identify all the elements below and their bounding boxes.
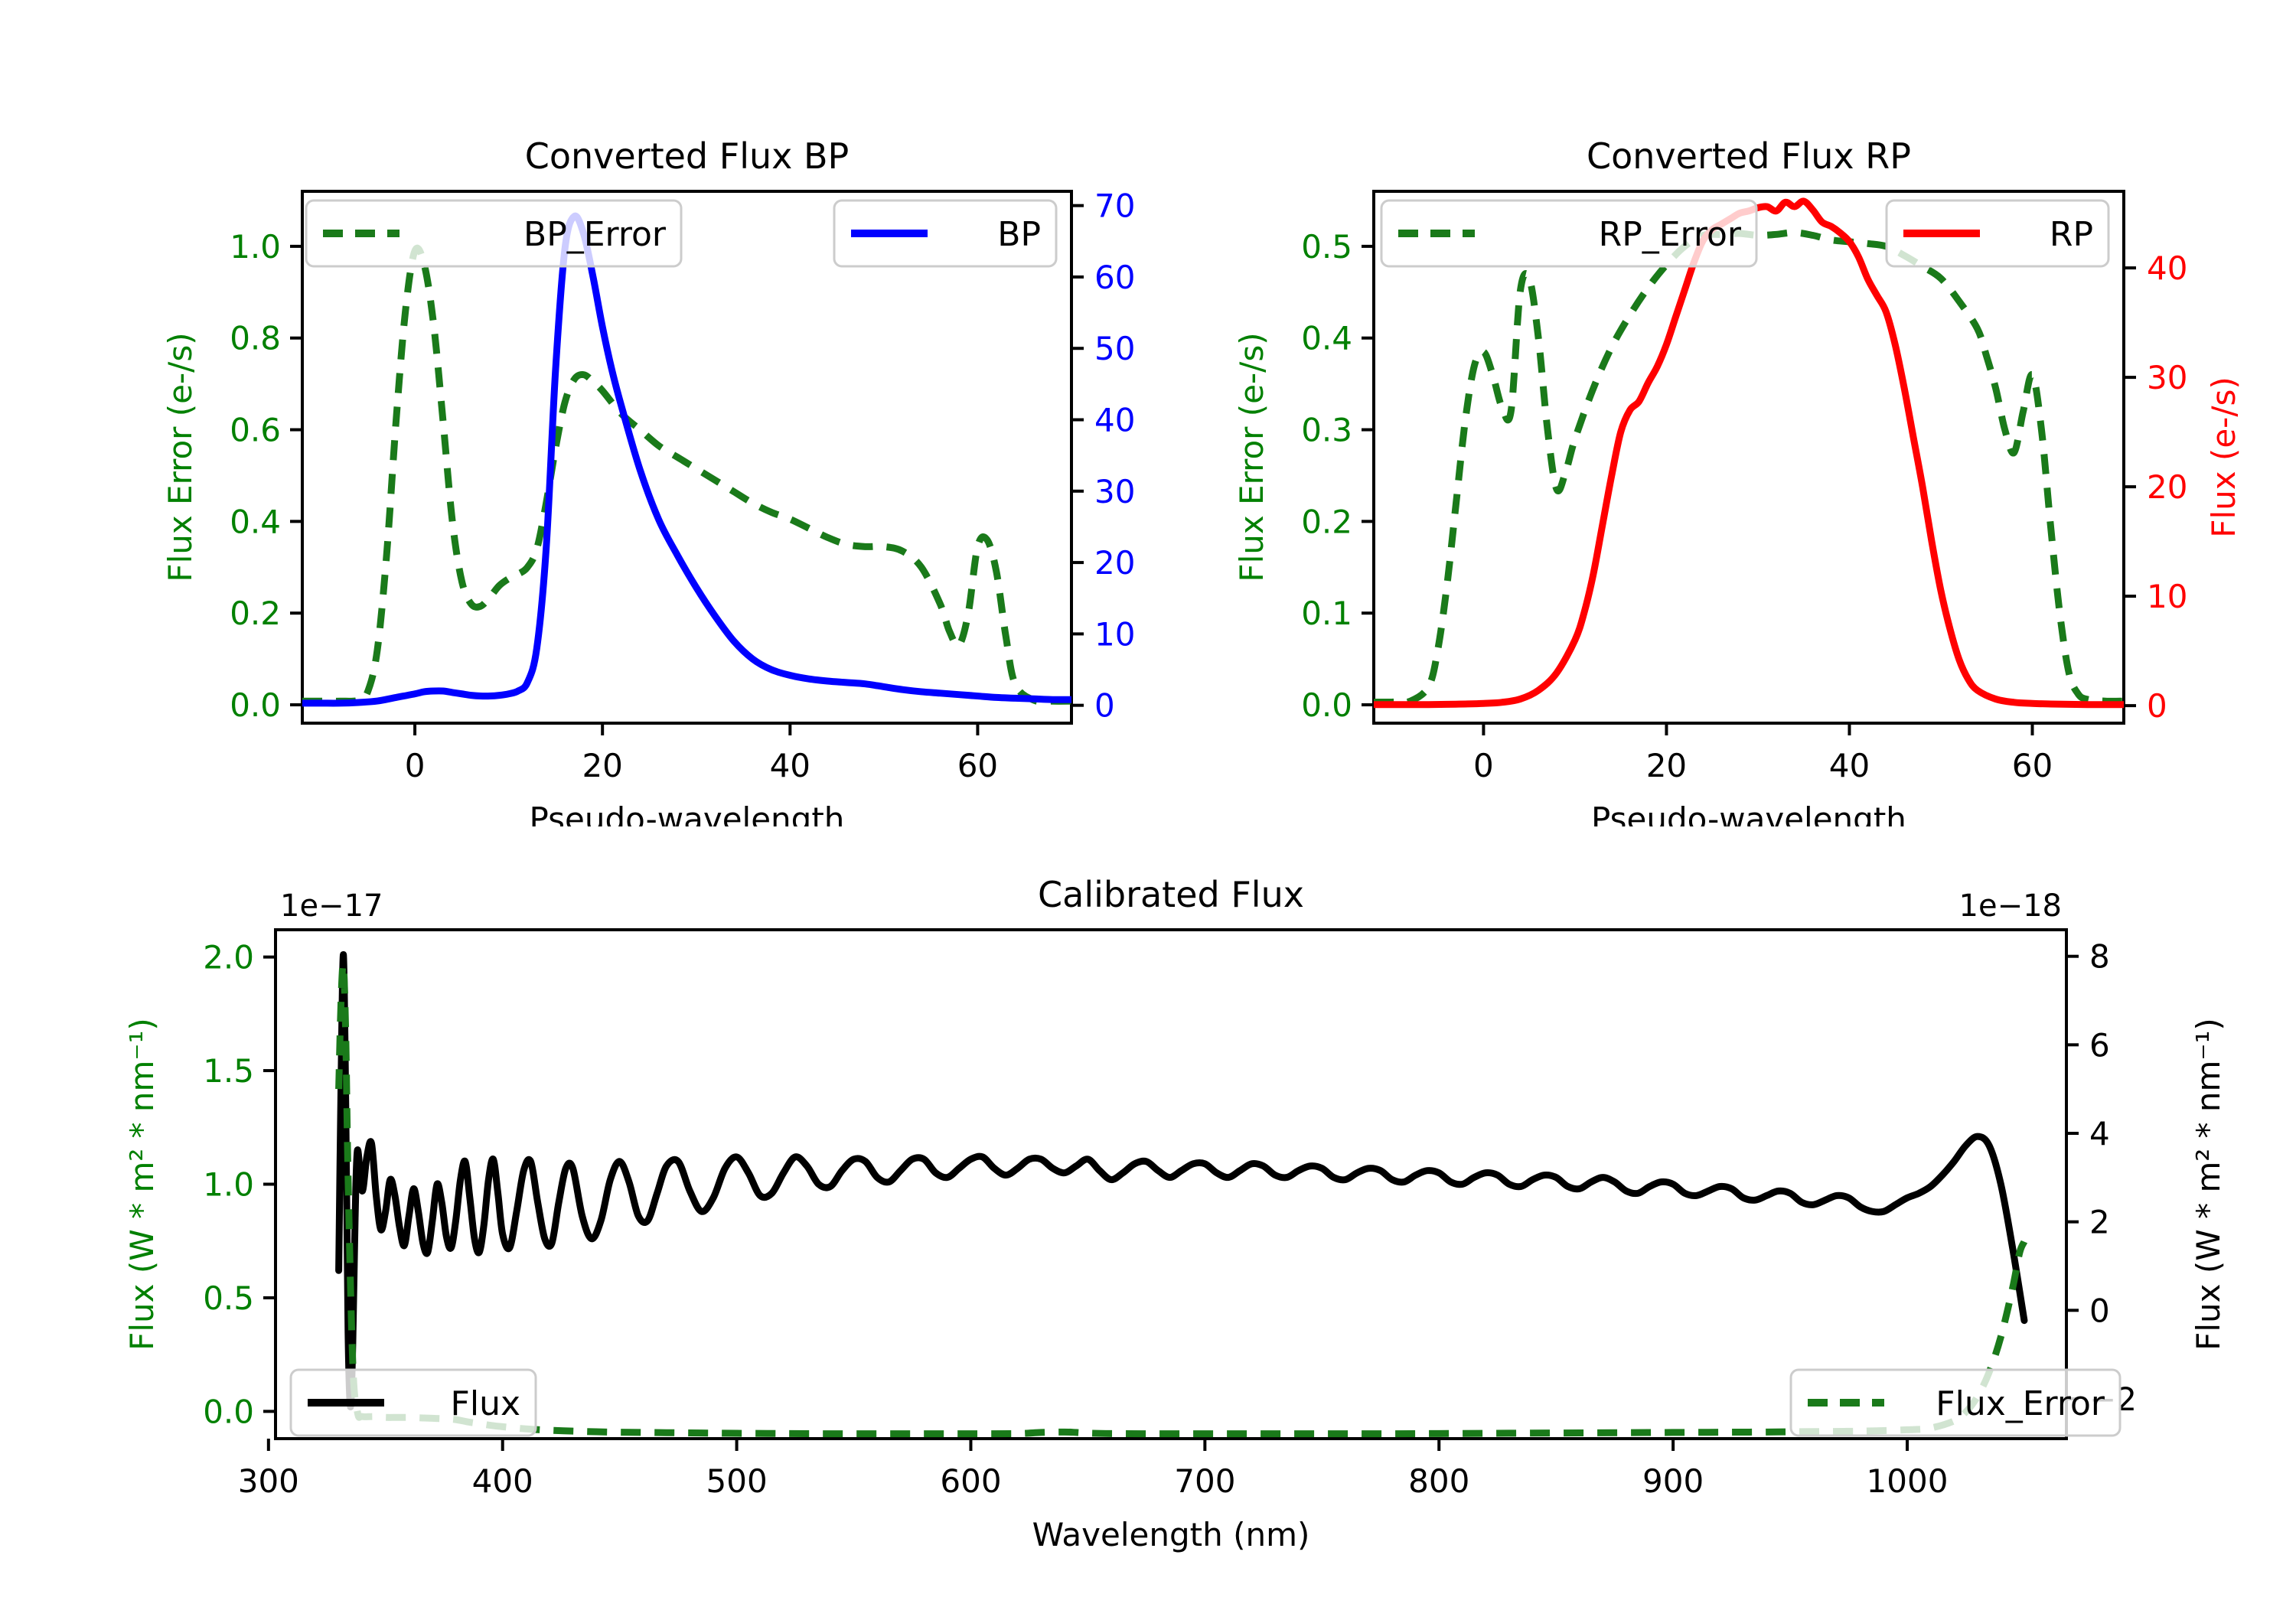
series-flux <box>339 954 2024 1407</box>
x-tick-label: 300 <box>238 1462 299 1500</box>
series-bp_error <box>302 248 1071 702</box>
y-left-tick-label: 0.2 <box>230 595 281 632</box>
x-tick-label: 20 <box>1646 747 1687 784</box>
panel-rp-ylabel-right: Flux (e-/s) <box>2205 376 2242 537</box>
y-right-tick-label: 0 <box>1094 687 1115 725</box>
legend-flux-error[interactable]: Flux_Error <box>1791 1370 2120 1436</box>
panel-rp-svg: Converted Flux RP0204060Pseudo-wavelengt… <box>1148 0 2296 826</box>
x-tick-label: 800 <box>1408 1462 1469 1500</box>
legend-label-flux-error: Flux_Error <box>1936 1384 2105 1423</box>
legend-label-bp: BP <box>997 215 1041 254</box>
y-right-tick-label: 30 <box>2147 359 2187 396</box>
x-tick-label: 40 <box>770 747 810 784</box>
x-tick-label: 60 <box>957 747 998 784</box>
y-right-tick-label: 10 <box>2147 578 2187 615</box>
panel-bp-xlabel: Pseudo-wavelength <box>530 800 845 826</box>
panel-cal-offset-left: 1e−17 <box>280 888 383 924</box>
y-left-tick-label: 0.1 <box>1301 595 1352 632</box>
panel-rp-axes-frame <box>1374 191 2124 723</box>
panel-cal-axes-frame <box>276 930 2066 1439</box>
legend-label-rp-error: RP_Error <box>1599 215 1742 254</box>
y-right-tick-label: 2 <box>2089 1204 2110 1241</box>
panel-bp-svg: Converted Flux BP0204060Pseudo-wavelengt… <box>0 0 1148 826</box>
panel-cal-data-area <box>339 954 2024 1433</box>
y-left-tick-label: 0.0 <box>1301 686 1352 724</box>
x-tick-label: 0 <box>405 747 426 784</box>
panel-cal-ylabel-left: Flux (W * m² * nm⁻¹) <box>123 1018 161 1351</box>
panel-rp-title: Converted Flux RP <box>1587 135 1911 177</box>
panel-cal: Calibrated Flux3004005006007008009001000… <box>0 826 2296 1607</box>
x-tick-label: 1000 <box>1867 1462 1949 1500</box>
y-right-tick-label: 6 <box>2089 1026 2110 1064</box>
panel-rp-ylabel-left: Flux Error (e-/s) <box>1233 332 1270 582</box>
y-left-tick-label: 0.2 <box>1301 503 1352 540</box>
panel-cal-offset-right: 1e−18 <box>1959 888 2062 924</box>
legend-rp[interactable]: RP <box>1887 200 2108 266</box>
y-right-tick-label: 70 <box>1094 187 1135 225</box>
y-right-tick-label: 0 <box>2089 1292 2110 1329</box>
legend-flux[interactable]: Flux <box>291 1370 536 1436</box>
legend-label-bp-error: BP_Error <box>523 215 667 254</box>
y-right-tick-label: 20 <box>2147 468 2187 506</box>
panel-cal-svg: Calibrated Flux3004005006007008009001000… <box>0 826 2296 1607</box>
y-left-tick-label: 0.8 <box>230 320 281 357</box>
panel-rp-xlabel: Pseudo-wavelength <box>1591 800 1906 826</box>
y-left-tick-label: 0.4 <box>1301 320 1352 357</box>
x-tick-label: 40 <box>1829 747 1870 784</box>
y-right-tick-label: 10 <box>1094 615 1135 653</box>
y-left-tick-label: 0.0 <box>230 686 281 724</box>
panel-cal-ylabel-right: Flux (W * m² * nm⁻¹) <box>2190 1018 2227 1351</box>
y-right-tick-label: 8 <box>2089 938 2110 976</box>
legend-bp[interactable]: BP <box>834 200 1056 266</box>
legend-rp-error[interactable]: RP_Error <box>1381 200 1756 266</box>
y-left-tick-label: 1.0 <box>230 228 281 266</box>
y-left-tick-label: 0.3 <box>1301 412 1352 449</box>
y-right-tick-label: 20 <box>1094 544 1135 582</box>
y-right-tick-label: 0 <box>2147 687 2167 725</box>
y-left-tick-label: 0.5 <box>1301 228 1352 266</box>
figure-canvas: Converted Flux BP0204060Pseudo-wavelengt… <box>0 0 2296 1607</box>
y-right-tick-label: 40 <box>1094 402 1135 439</box>
panel-rp: Converted Flux RP0204060Pseudo-wavelengt… <box>1148 0 2296 826</box>
x-tick-label: 900 <box>1642 1462 1704 1500</box>
y-right-tick-label: 30 <box>1094 473 1135 510</box>
panel-bp: Converted Flux BP0204060Pseudo-wavelengt… <box>0 0 1148 826</box>
panel-rp-data-area <box>1374 201 2124 705</box>
y-right-tick-label: 40 <box>2147 249 2187 287</box>
x-tick-label: 0 <box>1473 747 1494 784</box>
panel-bp-ylabel-left: Flux Error (e-/s) <box>161 332 199 582</box>
x-tick-label: 600 <box>940 1462 1001 1500</box>
panel-cal-xlabel: Wavelength (nm) <box>1032 1516 1310 1553</box>
y-left-tick-label: 0.5 <box>203 1279 254 1317</box>
x-tick-label: 700 <box>1174 1462 1235 1500</box>
x-tick-label: 500 <box>706 1462 768 1500</box>
x-tick-label: 20 <box>582 747 622 784</box>
panel-bp-title: Converted Flux BP <box>525 135 850 177</box>
y-left-tick-label: 1.0 <box>203 1166 254 1204</box>
y-right-tick-label: 50 <box>1094 330 1135 367</box>
y-left-tick-label: 2.0 <box>203 939 254 976</box>
panel-bp-data-area <box>302 216 1071 703</box>
legend-label-flux: Flux <box>451 1384 520 1423</box>
legend-label-rp: RP <box>2050 215 2093 254</box>
series-flux_error <box>339 964 2024 1434</box>
legend-bp-error[interactable]: BP_Error <box>306 200 681 266</box>
x-tick-label: 60 <box>2012 747 2053 784</box>
y-left-tick-label: 1.5 <box>203 1052 254 1090</box>
y-right-tick-label: 4 <box>2089 1115 2110 1152</box>
series-rp_error <box>1374 233 2124 702</box>
y-left-tick-label: 0.4 <box>230 503 281 540</box>
panel-cal-title: Calibrated Flux <box>1038 874 1304 915</box>
x-tick-label: 400 <box>472 1462 533 1500</box>
y-right-tick-label: 60 <box>1094 259 1135 296</box>
y-left-tick-label: 0.0 <box>203 1393 254 1430</box>
y-left-tick-label: 0.6 <box>230 412 281 449</box>
panel-bp-axes-frame <box>302 191 1071 723</box>
